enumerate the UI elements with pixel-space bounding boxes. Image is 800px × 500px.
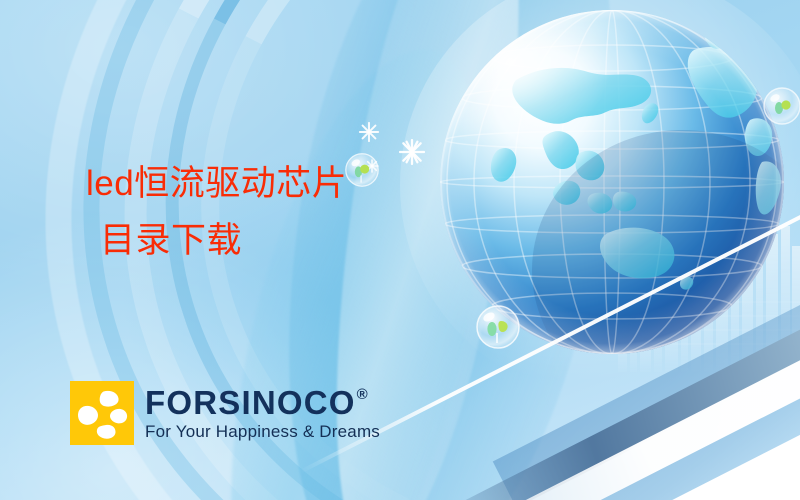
background-wash-bottom-left [0,220,400,500]
headline-line-2: 目录下载 [100,223,347,258]
city-skyline-icon [610,212,800,372]
page-title: led恒流驱动芯片 目录下载 [86,166,347,258]
logo-wordmark-text: FORSINOCO [145,386,356,419]
brand-logo: FORSINOCO ® For Your Happiness & Dreams [70,381,380,445]
diagonal-blue-wedge [493,225,800,500]
promo-banner: led恒流驱动芯片 目录下载 FORSINOCO ® For Your Happ… [0,0,800,500]
sparkle-flower-icon [364,158,380,174]
sparkle-flower-icon [358,121,380,143]
diagonal-white-stripe [412,267,800,500]
registered-trademark-symbol: ® [357,387,369,402]
earth-globe-icon [432,2,792,362]
logo-wordmark: FORSINOCO ® [145,386,380,419]
pinwheel-flower-icon [70,381,134,445]
logo-tagline: For Your Happiness & Dreams [145,423,380,440]
sparkle-flower-icon [399,139,425,165]
soap-bubble-icon [762,86,800,126]
soap-bubble-icon [344,152,380,188]
globe-glow [400,0,800,400]
headline-line-1: led恒流驱动芯片 [86,166,347,201]
corner-white-fill [455,293,800,500]
diagonal-steel-stripe [423,240,800,500]
soap-bubble-icon [475,304,521,350]
